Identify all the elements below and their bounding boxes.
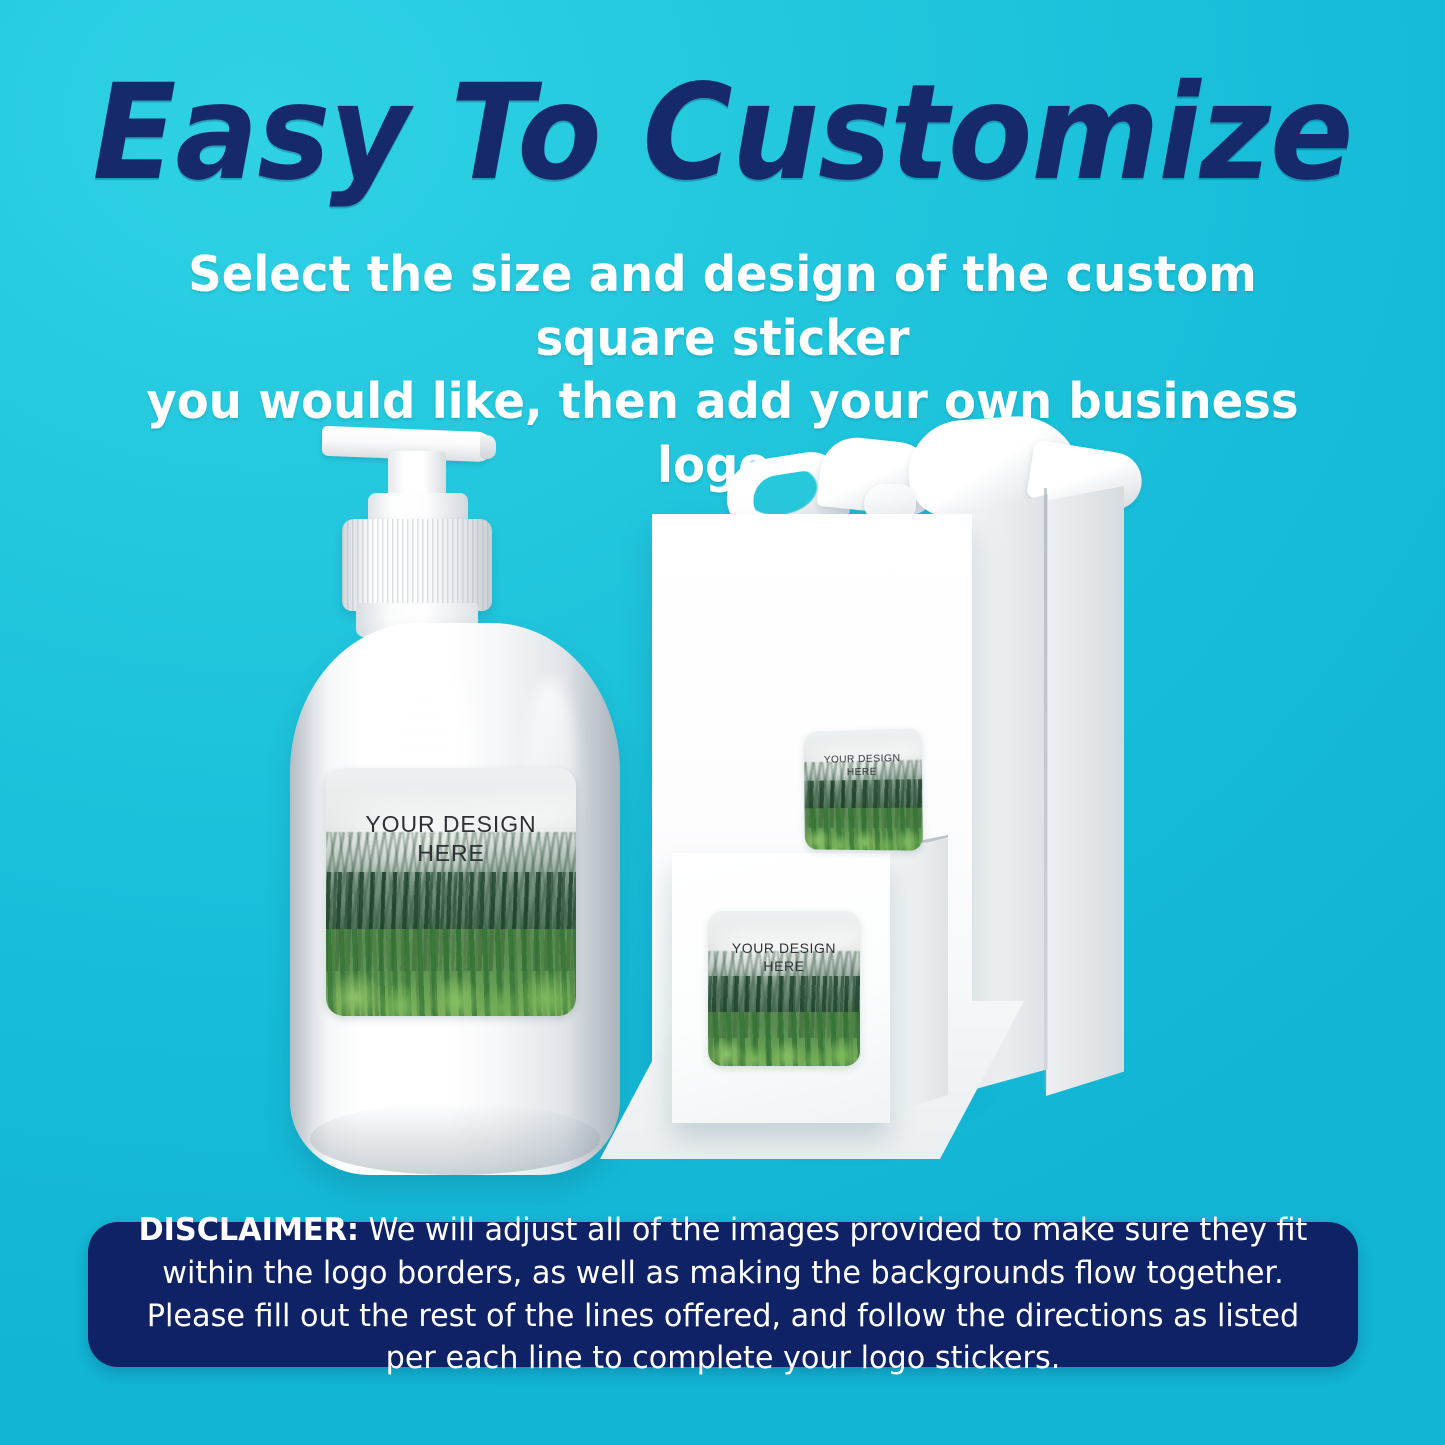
gift-box-sticker-text: YOUR DESIGN HERE bbox=[804, 751, 922, 780]
pump-collar-ribbed bbox=[342, 519, 492, 611]
promo-poster: Easy To Customize Select the size and de… bbox=[0, 0, 1445, 1445]
disclaimer-banner: DISCLAIMER: We will adjust all of the im… bbox=[88, 1222, 1358, 1367]
gift-box-sticker-line-2: HERE bbox=[804, 765, 922, 780]
forest-artwork bbox=[326, 768, 576, 1016]
disclaimer-label: DISCLAIMER: bbox=[139, 1212, 359, 1248]
small-box-sticker: YOUR DESIGN HERE bbox=[708, 911, 860, 1066]
product-mockup-scene: YOUR DESIGN HERE bbox=[0, 380, 1445, 1180]
forest-artwork bbox=[804, 728, 923, 851]
bottle-sticker-label: YOUR DESIGN HERE bbox=[326, 768, 576, 1016]
bottle-label-line-1: YOUR DESIGN bbox=[326, 810, 576, 839]
bottle-shade-left bbox=[290, 623, 330, 1175]
page-title: Easy To Customize bbox=[51, 64, 1395, 203]
gift-box-side-far bbox=[1046, 486, 1124, 1096]
small-box-sticker-line-1: YOUR DESIGN bbox=[708, 940, 860, 958]
small-product-box-mockup: YOUR DESIGN HERE bbox=[672, 853, 944, 1143]
gift-box-sticker: YOUR DESIGN HERE bbox=[804, 728, 923, 851]
small-box-sticker-line-2: HERE bbox=[708, 958, 860, 976]
gift-box-seam bbox=[1044, 488, 1047, 1090]
bottle-base-shading bbox=[310, 1103, 600, 1175]
bottle-label-text: YOUR DESIGN HERE bbox=[326, 810, 576, 868]
small-box-sticker-text: YOUR DESIGN HERE bbox=[708, 940, 860, 975]
canopy-layer bbox=[708, 1013, 860, 1066]
forest-artwork bbox=[708, 911, 860, 1066]
canopy-layer bbox=[326, 932, 576, 1016]
subtitle-line-1: Select the size and design of the custom… bbox=[136, 243, 1309, 370]
disclaimer-text: DISCLAIMER: We will adjust all of the im… bbox=[138, 1209, 1307, 1380]
canopy-layer bbox=[805, 809, 923, 851]
bottle-label-line-2: HERE bbox=[326, 839, 576, 868]
small-box-side-panel bbox=[890, 837, 948, 1113]
pump-bottle-mockup: YOUR DESIGN HERE bbox=[290, 415, 620, 1175]
